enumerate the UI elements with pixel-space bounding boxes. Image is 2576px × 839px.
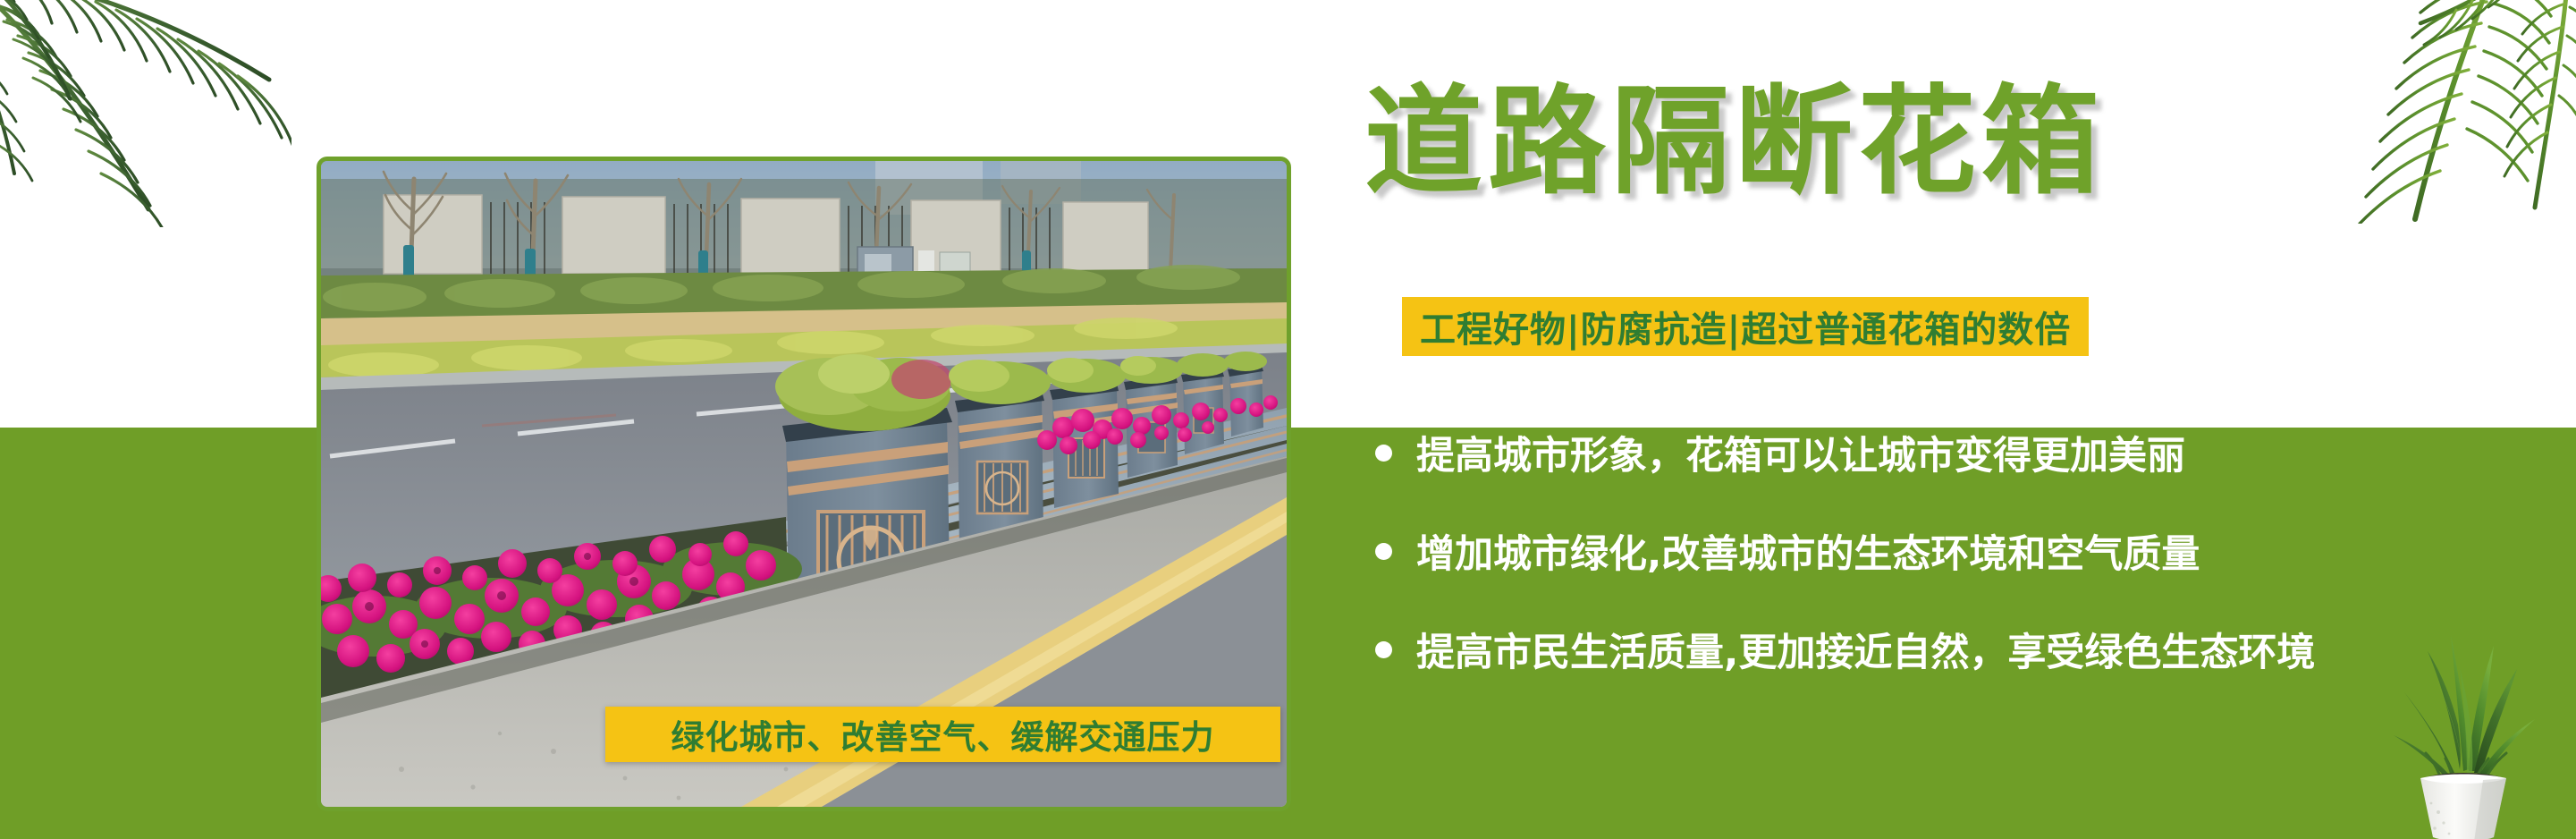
promotional-banner: 绿化城市、改善空气、缓解交通压力 道路隔断花箱 工程好物|防腐抗造|超过普通花箱… xyxy=(0,0,2576,839)
product-photo: 绿化城市、改善空气、缓解交通压力 xyxy=(317,157,1291,811)
bullet-dot-icon xyxy=(1375,543,1392,560)
photo-caption-ribbon: 绿化城市、改善空气、缓解交通压力 xyxy=(605,707,1280,762)
text-content-column: 道路隔断花箱 工程好物|防腐抗造|超过普通花箱的数倍 提高城市形象，花箱可以让城… xyxy=(1356,54,2545,796)
list-item: 提高市民生活质量,更加接近自然，享受绿色生态环境 xyxy=(1375,617,2555,682)
page-title: 道路隔断花箱 xyxy=(1364,81,2105,206)
feature-bullet-list: 提高城市形象，花箱可以让城市变得更加美丽 增加城市绿化,改善城市的生态环境和空气… xyxy=(1375,420,2555,716)
photo-caption-text: 绿化城市、改善空气、缓解交通压力 xyxy=(671,710,1215,758)
bullet-dot-icon xyxy=(1375,641,1392,658)
list-item: 增加城市绿化,改善城市的生态环境和空气质量 xyxy=(1375,519,2555,583)
subtitle-badge-text: 工程好物|防腐抗造|超过普通花箱的数倍 xyxy=(1420,301,2071,352)
bullet-text: 提高城市形象，花箱可以让城市变得更加美丽 xyxy=(1416,425,2185,480)
palm-leaf-icon xyxy=(0,0,291,227)
bullet-text: 增加城市绿化,改善城市的生态环境和空气质量 xyxy=(1416,523,2200,579)
bullet-text: 提高市民生活质量,更加接近自然，享受绿色生态环境 xyxy=(1416,622,2315,677)
bullet-dot-icon xyxy=(1375,445,1392,462)
subtitle-badge: 工程好物|防腐抗造|超过普通花箱的数倍 xyxy=(1402,297,2089,356)
list-item: 提高城市形象，花箱可以让城市变得更加美丽 xyxy=(1375,420,2555,485)
